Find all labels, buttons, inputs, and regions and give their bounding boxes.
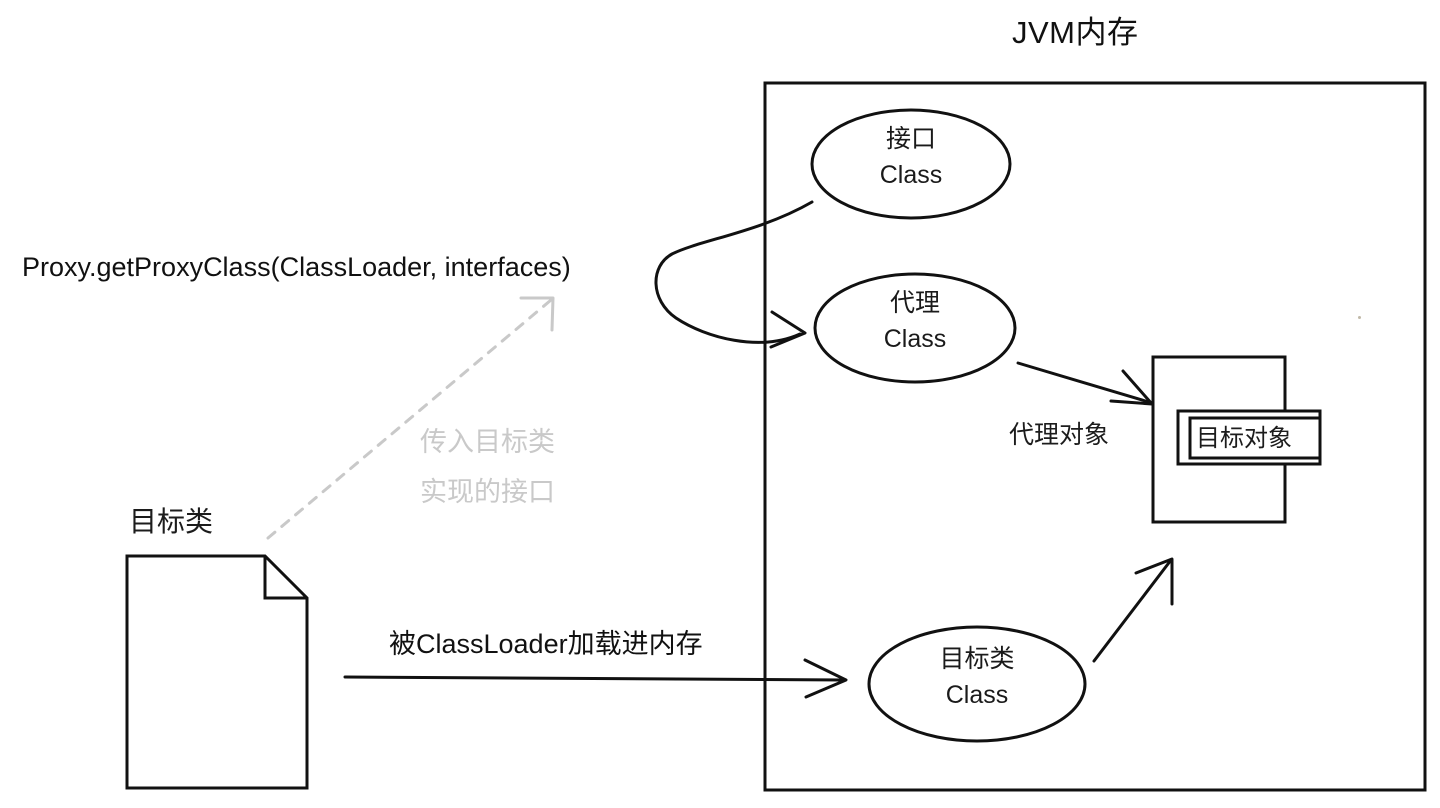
edge-proxy-class-to-proxy-object-arrowhead [1111, 371, 1152, 404]
interface-class-label: 接口 Class [861, 125, 961, 190]
proxy-object-label: 代理对象 [1009, 421, 1109, 450]
edge-pass-interfaces-label: 传入目标类 实现的接口 [420, 418, 555, 518]
target-object-label: 目标对象 [1196, 425, 1292, 453]
target-class-document-label: 目标类 [129, 506, 213, 538]
proxy-class-label-line1: 代理 [890, 289, 940, 317]
proxy-class-label: 代理 Class [865, 289, 965, 354]
target-class-class-label: 目标类 Class [915, 645, 1039, 710]
edge-pass-interfaces-label-line1: 传入目标类 [420, 418, 555, 468]
edge-classloader-load-label: 被ClassLoader加载进内存 [389, 629, 703, 660]
interface-class-label-line2: Class [861, 161, 961, 190]
target-class-class-label-line1: 目标类 [939, 645, 1014, 673]
target-class-class-label-line2: Class [915, 681, 1039, 710]
diagram-canvas: JVM内存 接口 Class 代理 Class 目标类 Class 目标类 代理… [0, 0, 1440, 808]
interface-class-label-line1: 接口 [886, 125, 936, 153]
diagram-vector-layer [0, 0, 1440, 808]
edge-get-proxy-class-label: Proxy.getProxyClass(ClassLoader, interfa… [22, 252, 571, 283]
edge-target-class-to-target-object-line [1094, 560, 1171, 661]
artifact-speck [1358, 316, 1361, 319]
target-class-document-shape [127, 556, 307, 788]
proxy-class-label-line2: Class [865, 325, 965, 354]
edge-classloader-load-line [345, 677, 845, 680]
page-title: JVM内存 [1012, 15, 1139, 51]
edge-pass-interfaces-label-line2: 实现的接口 [420, 468, 555, 518]
